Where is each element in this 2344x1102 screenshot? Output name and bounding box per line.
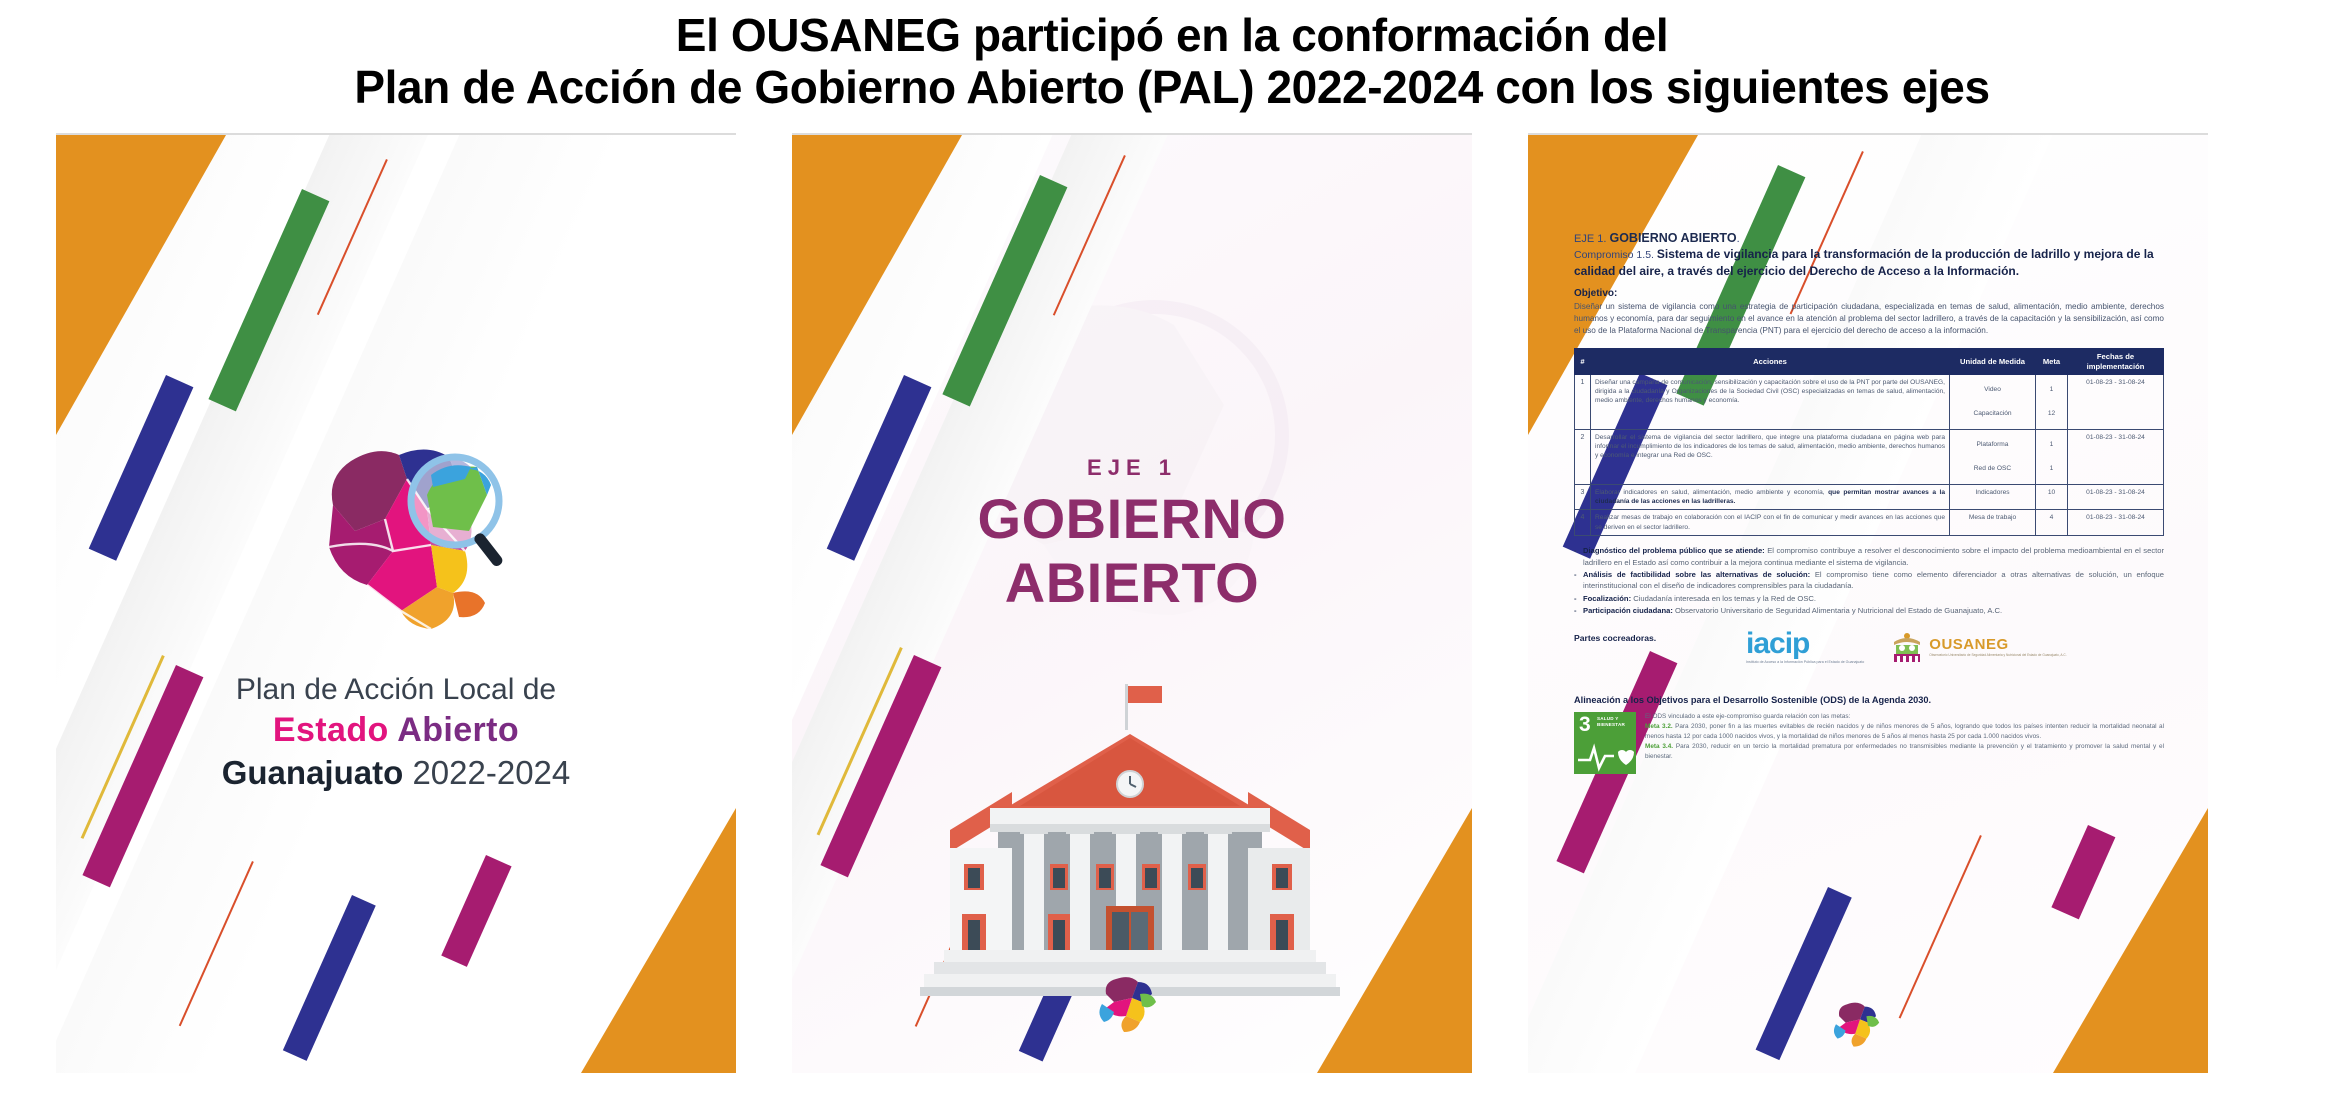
ousaneg-logo: OUSANEG Observatorio Universitario de Se…	[1890, 630, 2066, 664]
page-title-line-1: El OUSANEG participó en la conformación …	[0, 10, 2344, 62]
list-item: Diagnóstico del problema público que se …	[1574, 545, 2164, 568]
corner-wedge-orange-bottom-right	[581, 808, 736, 1073]
cover-line-2-abierto: Abierto	[397, 711, 519, 749]
compromiso-bullets: Diagnóstico del problema público que se …	[1574, 545, 2164, 616]
unidad-value: Red de OSC	[1954, 464, 2031, 473]
cover-line-2-estado: Estado	[273, 711, 389, 749]
doc-compromiso-label: Compromiso 1.5.	[1574, 249, 1654, 261]
ods-metas-text: El ODS vinculado a este eje-compromiso g…	[1645, 712, 2164, 774]
cell-unidad: Video Capacitación	[1950, 374, 2036, 429]
corner-wedge-orange-bottom-right	[1317, 808, 1472, 1073]
cover-line-3: Guanajuato 2022-2024	[56, 752, 736, 794]
acciones-table: # Acciones Unidad de Medida Meta Fechas …	[1574, 348, 2164, 536]
meta-value: 1	[2040, 385, 2063, 394]
hairline-red-top	[317, 159, 388, 315]
bullet-text: Ciudadanía interesada en los temas y la …	[1631, 594, 1816, 603]
accent-bar-navy-bottom	[283, 895, 376, 1061]
corner-wedge-orange-top-left	[56, 135, 226, 435]
ods-3-badge-icon: 3 SALUD Y BIENESTAR	[1574, 712, 1636, 774]
bullet-label: Focalización:	[1583, 594, 1631, 603]
table-row: 1 Diseñar una campaña de comunicación, s…	[1575, 374, 2164, 429]
ods-meta-1-label: Meta 3.2.	[1645, 723, 1673, 730]
cell-num: 1	[1575, 374, 1591, 429]
ousaneg-subtitle: Observatorio Universitario de Seguridad …	[1929, 653, 2066, 657]
list-item: Análisis de factibilidad sobre las alter…	[1574, 569, 2164, 592]
guanajuato-map-icon	[281, 435, 511, 645]
cover-caption: Plan de Acción Local de Estado Abierto G…	[56, 671, 736, 793]
slide-compromiso-document[interactable]: EJE 1. GOBIERNO ABIERTO. Compromiso 1.5.…	[1528, 133, 2208, 1073]
page-title: El OUSANEG participó en la conformación …	[0, 0, 2344, 113]
th-acciones: Acciones	[1591, 349, 1950, 374]
ods-name: SALUD Y BIENESTAR	[1597, 716, 1636, 727]
doc-eje-prefix: EJE 1.	[1574, 233, 1606, 245]
ousaneg-map-logo-footer	[1828, 1000, 1884, 1055]
page-title-line-2: Plan de Acción de Gobierno Abierto (PAL)…	[0, 62, 2344, 114]
ods-meta-1-text: Para 2030, poner fin a las muertes evita…	[1645, 723, 2164, 740]
table-row: 3 Elaborar indicadores en salud, aliment…	[1575, 484, 2164, 510]
cell-accion: Realizar mesas de trabajo en colaboració…	[1591, 510, 1950, 536]
alineacion-ods-title: Alineación a los Objetivos para el Desar…	[1574, 695, 2164, 705]
accent-bar-green	[208, 189, 329, 411]
cell-accion: Elaborar indicadores en salud, alimentac…	[1591, 484, 1950, 510]
list-item: Focalización: Ciudadanía interesada en l…	[1574, 593, 2164, 604]
cell-num: 4	[1575, 510, 1591, 536]
ods-meta-2-label: Meta 3.4.	[1645, 743, 1673, 750]
table-header-row: # Acciones Unidad de Medida Meta Fechas …	[1575, 349, 2164, 374]
cell-unidad: Indicadores	[1950, 484, 2036, 510]
meta-value: 12	[2040, 409, 2063, 418]
cell-fechas: 01-08-23 - 31-08-24	[2068, 429, 2164, 484]
doc-eje-heading: EJE 1. GOBIERNO ABIERTO.	[1574, 231, 2164, 245]
accion-plain: Elaborar indicadores en salud, alimentac…	[1595, 489, 1828, 496]
cell-num: 2	[1575, 429, 1591, 484]
ousaneg-emblem-icon	[1890, 630, 1924, 664]
ods-meta-2-text: Para 2030, reducir en un tercio la morta…	[1645, 743, 2164, 760]
bullet-text: Observatorio Universitario de Seguridad …	[1673, 606, 2002, 615]
cell-fechas: 01-08-23 - 31-08-24	[2068, 510, 2164, 536]
eje-title-line-2: ABIERTO	[792, 551, 1472, 615]
meta-value: 1	[2040, 440, 2063, 449]
cell-unidad: Plataforma Red de OSC	[1950, 429, 2036, 484]
cell-fechas: 01-08-23 - 31-08-24	[2068, 374, 2164, 429]
unidad-value: Video	[1954, 385, 2031, 394]
table-row: 4 Realizar mesas de trabajo en colaborac…	[1575, 510, 2164, 536]
ods-block: 3 SALUD Y BIENESTAR El ODS vinculado a e…	[1574, 712, 2164, 774]
partes-logos: iacip Instituto de Acceso a la Informaci…	[1746, 629, 2164, 665]
doc-objetivo-text: Diseñar un sistema de vigilancia como un…	[1574, 301, 2164, 337]
hairline-red-bottom	[179, 861, 254, 1026]
eje-title: GOBIERNO ABIERTO	[792, 487, 1472, 615]
doc-eje-name: GOBIERNO ABIERTO	[1609, 231, 1736, 245]
cover-line-2: Estado Abierto	[56, 709, 736, 752]
doc-compromiso: Compromiso 1.5. Sistema de vigilancia pa…	[1574, 246, 2164, 280]
iacip-logo: iacip Instituto de Acceso a la Informaci…	[1746, 629, 1864, 665]
doc-objetivo-label: Objetivo:	[1574, 288, 2164, 299]
table-row: 2 Desarrollar el sistema de vigilancia d…	[1575, 429, 2164, 484]
accent-bar-magenta-bottom	[441, 855, 511, 967]
meta-value: 1	[2040, 464, 2063, 473]
ods-number: 3	[1579, 714, 1591, 735]
th-fechas: Fechas de implementación	[2068, 349, 2164, 374]
cover-line-3-years: 2022-2024	[412, 754, 570, 791]
doc-eje-suffix: .	[1737, 233, 1740, 245]
ods-meta-2: Meta 3.4. Para 2030, reducir en un terci…	[1645, 742, 2164, 762]
ods-intro: El ODS vinculado a este eje-compromiso g…	[1645, 712, 2164, 722]
eje-number-label: EJE 1	[792, 455, 1472, 481]
ousaneg-wordmark: OUSANEG	[1929, 637, 2066, 652]
eje-title-line-1: GOBIERNO	[792, 487, 1472, 551]
ods-meta-1: Meta 3.2. Para 2030, poner fin a las mue…	[1645, 722, 2164, 742]
unidad-value: Plataforma	[1954, 440, 2031, 449]
slide-plan-de-accion-cover[interactable]: Plan de Acción Local de Estado Abierto G…	[56, 133, 736, 1073]
cell-meta: 10	[2036, 484, 2068, 510]
th-unidad: Unidad de Medida	[1950, 349, 2036, 374]
ousaneg-map-logo-footer	[1092, 974, 1162, 1041]
corner-wedge-orange-top-left	[792, 135, 962, 435]
list-item: Participación ciudadana: Observatorio Un…	[1574, 605, 2164, 616]
doc-compromiso-text: Sistema de vigilancia para la transforma…	[1574, 247, 2154, 278]
bullet-label: Diagnóstico del problema público que se …	[1583, 546, 1765, 555]
iacip-subtitle: Instituto de Acceso a la Información Púb…	[1746, 660, 1864, 665]
bullet-label: Análisis de factibilidad sobre las alter…	[1583, 570, 1810, 579]
cell-fechas: 01-08-23 - 31-08-24	[2068, 484, 2164, 510]
cell-num: 3	[1575, 484, 1591, 510]
government-building-illustration	[920, 680, 1340, 1015]
cell-meta: 1 1	[2036, 429, 2068, 484]
cover-line-3-guanajuato: Guanajuato	[222, 754, 404, 791]
slide-strip: Plan de Acción Local de Estado Abierto G…	[0, 133, 2344, 1073]
cell-accion: Desarrollar el sistema de vigilancia del…	[1591, 429, 1950, 484]
unidad-value: Capacitación	[1954, 409, 2031, 418]
document-content: EJE 1. GOBIERNO ABIERTO. Compromiso 1.5.…	[1574, 231, 2164, 774]
iacip-wordmark: iacip	[1746, 629, 1864, 659]
bullet-label: Participación ciudadana:	[1583, 606, 1673, 615]
corner-wedge-orange-bottom-right	[2053, 808, 2208, 1073]
cover-line-1: Plan de Acción Local de	[56, 671, 736, 709]
cell-meta: 4	[2036, 510, 2068, 536]
cell-unidad: Mesa de trabajo	[1950, 510, 2036, 536]
th-meta: Meta	[2036, 349, 2068, 374]
cell-accion: Diseñar una campaña de comunicación, sen…	[1591, 374, 1950, 429]
slide-eje-1-gobierno-abierto[interactable]: EJE 1 GOBIERNO ABIERTO	[792, 133, 1472, 1073]
cell-meta: 1 12	[2036, 374, 2068, 429]
th-num: #	[1575, 349, 1591, 374]
